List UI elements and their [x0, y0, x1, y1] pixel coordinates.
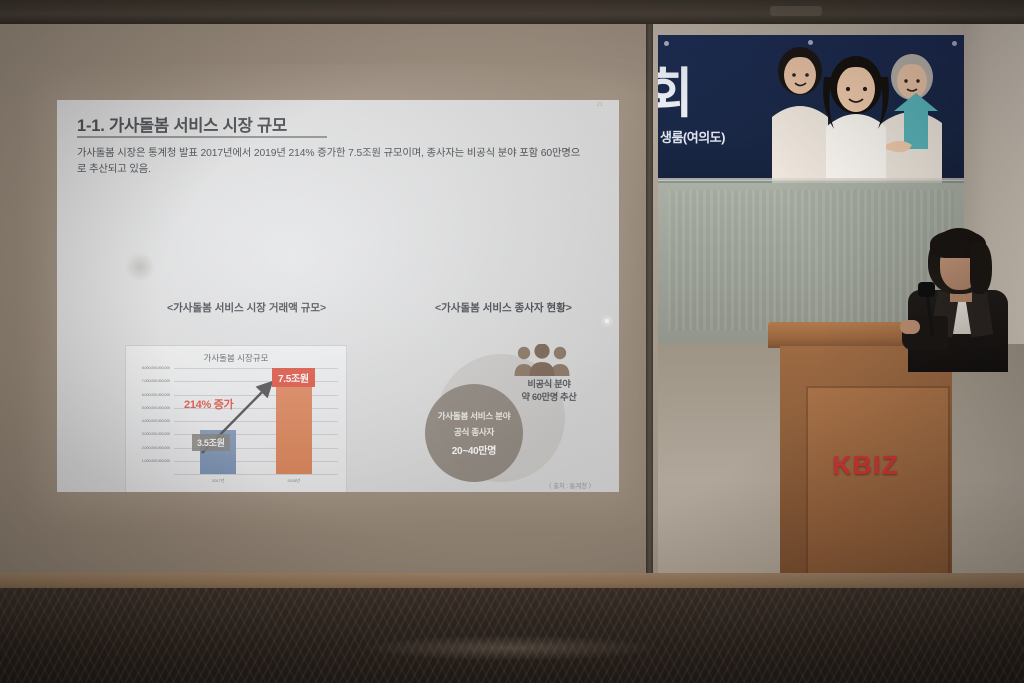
slide-page-number: 21	[597, 102, 603, 108]
formal-label-line2: 공식 종사자	[454, 426, 494, 438]
speaker-hair-side	[970, 242, 992, 294]
y-axis-tick: 6,000,000,000,000	[142, 393, 170, 397]
informal-label: 비공식 분야 약 60만명 추산	[499, 378, 599, 404]
growth-annotation: 214% 증가	[184, 396, 233, 412]
informal-label-line2: 약 60만명 추산	[499, 391, 599, 404]
value-label-2017: 3.5조원	[192, 434, 230, 451]
source-note: 〈 출처 : 통계청 〉	[515, 480, 619, 490]
presentation-slide: 1-1. 가사돌봄 서비스 시장 규모 가사돌봄 시장은 통계청 발표 2017…	[57, 100, 619, 492]
bar-2019: 2019년	[276, 380, 312, 474]
banner-subtitle: 생룸(여의도)	[660, 127, 725, 146]
y-axis-tick: 7,000,000,000,000	[142, 379, 170, 383]
x-axis-label-2019: 2019년	[287, 478, 300, 484]
gridline	[174, 421, 338, 422]
projection-screen: 1-1. 가사돌봄 서비스 시장 규모 가사돌봄 시장은 통계청 발표 2017…	[0, 24, 652, 590]
value-label-2019: 7.5조원	[272, 368, 315, 387]
slide-body-text: 가사돌봄 시장은 통계청 발표 2017년에서 2019년 214% 증가한 7…	[77, 146, 587, 178]
microphone-head	[918, 282, 935, 297]
glass-top-edge	[658, 178, 964, 181]
people-group-icon	[513, 344, 571, 376]
workforce-diagram: 가사돌봄 서비스 분야 공식 종사자 20~40만명 비공식 분야	[407, 340, 597, 492]
informal-label-line1: 비공식 분야	[499, 378, 599, 391]
bar-chart: 가사돌봄 시장규모 8,000,000,000,000 7,000,000,00…	[125, 345, 347, 492]
ceiling	[0, 0, 1024, 26]
gridline	[174, 461, 338, 462]
y-axis-tick: 3,000,000,000,000	[142, 432, 170, 436]
x-axis-label-2017: 2017년	[212, 478, 225, 484]
left-panel-caption: <가사돌봄 서비스 시장 거래액 규모>	[167, 300, 326, 315]
event-banner: 회 생룸(여의도)	[658, 35, 964, 183]
speaker-hand	[900, 320, 920, 334]
screen-smudge	[125, 252, 155, 282]
chart-title: 가사돌봄 시장규모	[126, 352, 346, 364]
y-axis-tick: 5,000,000,000,000	[142, 406, 170, 410]
ceiling-vent	[770, 6, 822, 16]
photo-scene: 회 생룸(여의도)	[0, 0, 1024, 683]
title-underline	[77, 136, 327, 138]
floor-light-reflection	[360, 635, 660, 661]
banner-grommet	[664, 41, 669, 46]
slide-title: 1-1. 가사돌봄 서비스 시장 규모	[77, 112, 287, 136]
y-axis-tick: 1,000,000,000,000	[142, 459, 170, 463]
formal-value: 20~40만명	[452, 442, 496, 457]
formal-label-line1: 가사돌봄 서비스 분야	[438, 410, 511, 422]
y-axis-tick: 8,000,000,000,000	[142, 366, 170, 370]
banner-headline: 회	[658, 49, 692, 128]
banner-illustration	[754, 41, 954, 183]
kbiz-logo: KBIZ	[768, 450, 964, 481]
gridline	[174, 474, 338, 475]
speaker-presenter	[900, 228, 1012, 368]
right-panel-caption: <가사돌봄 서비스 종사자 현황>	[435, 300, 572, 315]
y-axis-tick: 4,000,000,000,000	[142, 419, 170, 423]
laser-pointer-dot	[605, 319, 609, 323]
y-axis-tick: 2,000,000,000,000	[142, 446, 170, 450]
